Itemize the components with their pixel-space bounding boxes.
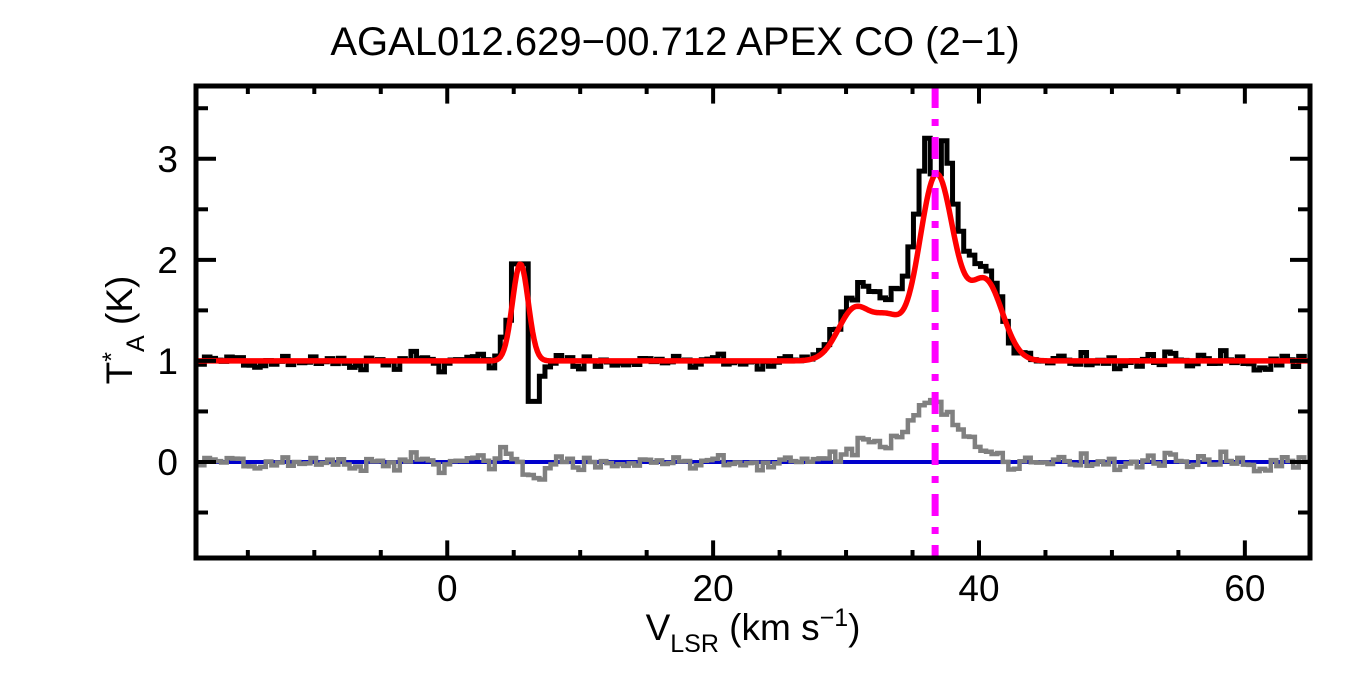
residual-histogram — [193, 400, 1315, 479]
y-tick-label: 0 — [157, 442, 178, 483]
x-axis-label-unit-sup: −1 — [820, 604, 849, 632]
plot-axes-layer: 02040600123 — [157, 86, 1310, 609]
y-axis-label-main: T — [99, 362, 140, 385]
y-tick-label: 2 — [157, 240, 178, 281]
svg-text:T*A (K): T*A (K) — [98, 276, 150, 385]
x-tick-label: 20 — [693, 568, 734, 609]
x-tick-label: 60 — [1224, 568, 1265, 609]
y-axis-label-sup: * — [98, 352, 126, 362]
x-axis-label-main: V — [646, 607, 671, 648]
y-axis-label-unit: (K) — [99, 276, 140, 336]
x-axis-label-sub: LSR — [670, 630, 719, 658]
gaussian-fit-curve — [196, 174, 1309, 361]
y-tick-label: 3 — [157, 139, 178, 180]
x-tick-label: 40 — [958, 568, 999, 609]
figure-panel: AGAL012.629−00.712 APEX CO (2−1) T*A (K)… — [0, 0, 1350, 675]
clipped-data — [193, 86, 1315, 558]
plot-data-layer — [193, 86, 1315, 558]
y-axis-label-sub: A — [122, 335, 150, 352]
spectrum-plot: T*A (K) VLSR (km s−1) 02040600123 — [0, 0, 1350, 675]
x-axis-label-unit-pre: (km s — [719, 607, 820, 648]
y-axis-label: T*A (K) — [98, 276, 150, 385]
y-tick-label: 1 — [157, 341, 178, 382]
x-tick-label: 0 — [437, 568, 458, 609]
plot-frame — [196, 86, 1310, 558]
x-axis-label-unit-post: ) — [848, 607, 860, 648]
svg-text:VLSR (km s−1): VLSR (km s−1) — [646, 604, 861, 658]
x-axis-label: VLSR (km s−1) — [646, 604, 861, 658]
